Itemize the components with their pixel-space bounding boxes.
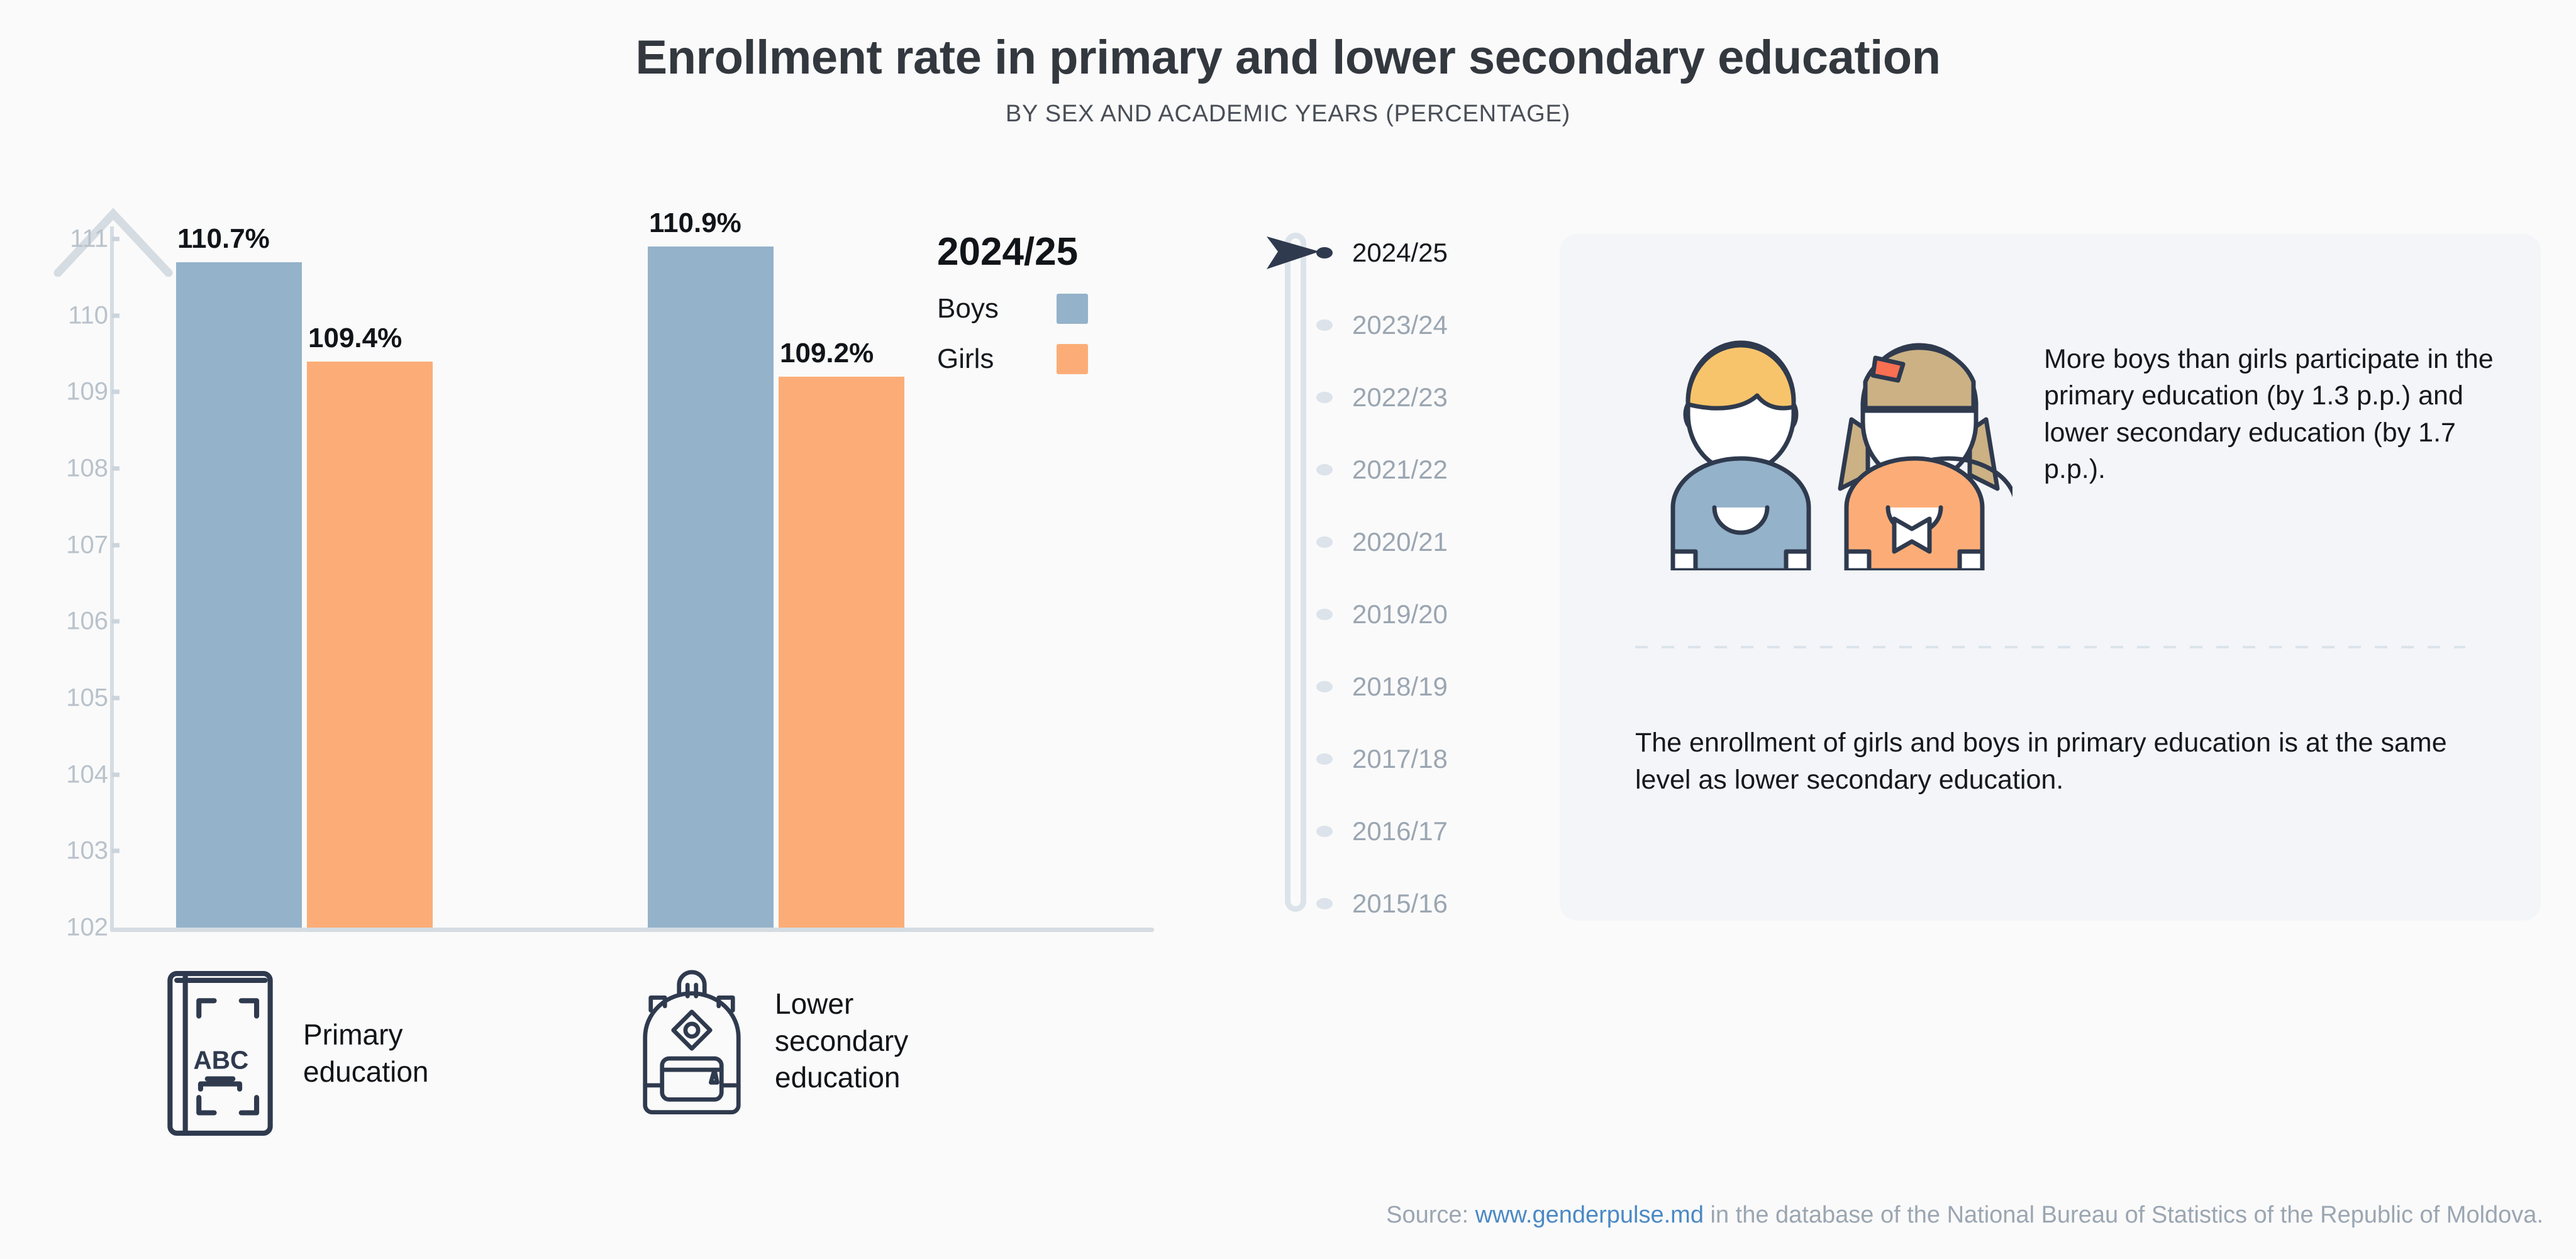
timeline-dot <box>1316 898 1333 909</box>
category-lower-secondary-education: Lower secondary education <box>635 956 908 1126</box>
timeline-year-label: 2024/25 <box>1352 238 1448 268</box>
bar-value-label: 109.4% <box>308 323 402 354</box>
legend-label-boys: Boys <box>937 293 999 324</box>
y-axis-tick-label: 108 <box>0 455 108 483</box>
bar-boys-lower-secondary-education[interactable] <box>648 247 774 928</box>
infographic-root: Enrollment rate in primary and lower sec… <box>0 0 2576 1259</box>
timeline-dot <box>1316 609 1333 620</box>
year-timeline-slider[interactable]: 2024/252023/242022/232021/222020/212019/… <box>1270 226 1535 924</box>
timeline-year-label: 2019/20 <box>1352 599 1448 629</box>
y-axis-tick-label: 107 <box>0 531 108 559</box>
timeline-year-label: 2015/16 <box>1352 889 1448 919</box>
timeline-year-2020-21[interactable]: 2020/21 <box>1270 530 1535 555</box>
chart-legend: 2024/25 Boys Girls <box>937 230 1151 375</box>
bar-boys-primary-education[interactable] <box>176 262 302 928</box>
timeline-year-2018-19[interactable]: 2018/19 <box>1270 674 1535 699</box>
y-axis-tick-label: 105 <box>0 684 108 713</box>
y-axis-tick-mark <box>112 313 119 318</box>
bar-value-label: 110.9% <box>649 208 741 239</box>
timeline-year-label: 2023/24 <box>1352 310 1448 340</box>
y-axis-tick-mark <box>112 849 119 853</box>
timeline-year-label: 2020/21 <box>1352 527 1448 557</box>
timeline-dot <box>1316 681 1333 692</box>
y-axis-tick-mark <box>112 467 119 471</box>
timeline-year-2023-24[interactable]: 2023/24 <box>1270 313 1535 338</box>
x-axis-line <box>110 928 1154 932</box>
insight-note: More boys than girls participate in the … <box>2044 341 2497 488</box>
y-axis-tick-mark <box>112 696 119 701</box>
timeline-year-2017-18[interactable]: 2017/18 <box>1270 746 1535 772</box>
y-axis-tick-mark <box>112 619 119 624</box>
y-axis-tick-label: 106 <box>0 607 108 636</box>
y-axis-tick-label: 104 <box>0 760 108 789</box>
bar-girls-lower-secondary-education[interactable] <box>779 377 904 928</box>
y-axis-tick-mark <box>112 237 119 241</box>
timeline-year-label: 2021/22 <box>1352 455 1448 485</box>
y-axis-tick-mark <box>112 543 119 547</box>
timeline-year-label: 2017/18 <box>1352 744 1448 774</box>
page-subtitle: BY SEX AND ACADEMIC YEARS (PERCENTAGE) <box>0 101 2576 128</box>
insight-body: The enrollment of girls and boys in prim… <box>1635 724 2478 799</box>
legend-item-girls[interactable]: Girls <box>937 343 1088 375</box>
category-label-primary: Primary education <box>303 1016 429 1090</box>
y-axis-tick-label: 110 <box>0 301 108 330</box>
page-title: Enrollment rate in primary and lower sec… <box>0 30 2576 85</box>
insight-panel: More boys than girls participate in the … <box>1560 234 2541 921</box>
bar-value-label: 109.2% <box>780 338 874 369</box>
timeline-year-2024-25[interactable]: 2024/25 <box>1270 240 1535 265</box>
legend-item-boys[interactable]: Boys <box>937 293 1088 324</box>
source-prefix: Source: <box>1386 1202 1475 1228</box>
backpack-icon <box>635 956 748 1126</box>
y-axis-tick-label: 102 <box>0 914 108 942</box>
legend-selected-year: 2024/25 <box>937 230 1151 274</box>
timeline-dot <box>1316 247 1333 258</box>
panel-divider <box>1635 646 2465 648</box>
bar-girls-primary-education[interactable] <box>307 362 433 928</box>
y-axis-tick-mark <box>112 772 119 777</box>
timeline-dot <box>1316 826 1333 837</box>
timeline-year-2016-17[interactable]: 2016/17 <box>1270 819 1535 844</box>
legend-swatch-boys <box>1057 294 1088 324</box>
abc-book-icon: ABC <box>164 968 277 1138</box>
source-link[interactable]: www.genderpulse.md <box>1475 1202 1704 1228</box>
timeline-year-2021-22[interactable]: 2021/22 <box>1270 457 1535 482</box>
y-axis-line <box>110 226 114 931</box>
y-axis-tick-label: 103 <box>0 837 108 865</box>
timeline-year-label: 2022/23 <box>1352 382 1448 413</box>
timeline-dot <box>1316 319 1333 331</box>
y-axis-tick-label: 111 <box>0 225 108 253</box>
legend-swatch-girls <box>1057 344 1088 374</box>
source-suffix: in the database of the National Bureau o… <box>1704 1202 2543 1228</box>
timeline-year-label: 2018/19 <box>1352 672 1448 702</box>
y-axis-tick-label: 109 <box>0 378 108 406</box>
svg-text:ABC: ABC <box>193 1045 248 1074</box>
timeline-dot <box>1316 392 1333 403</box>
legend-label-girls: Girls <box>937 343 994 375</box>
timeline-year-2022-23[interactable]: 2022/23 <box>1270 385 1535 410</box>
source-footer: Source: www.genderpulse.md in the databa… <box>1386 1202 2543 1229</box>
category-primary-education: ABC Primary education <box>164 968 429 1138</box>
timeline-dot <box>1316 536 1333 548</box>
timeline-dot <box>1316 753 1333 765</box>
timeline-year-label: 2016/17 <box>1352 816 1448 846</box>
timeline-year-2015-16[interactable]: 2015/16 <box>1270 891 1535 916</box>
bar-value-label: 110.7% <box>177 223 270 255</box>
timeline-year-2019-20[interactable]: 2019/20 <box>1270 602 1535 627</box>
y-axis-tick-mark <box>112 390 119 394</box>
boy-and-girl-illustration-icon <box>1654 319 2012 570</box>
category-label-lower-secondary: Lower secondary education <box>775 985 908 1097</box>
timeline-dot <box>1316 464 1333 475</box>
